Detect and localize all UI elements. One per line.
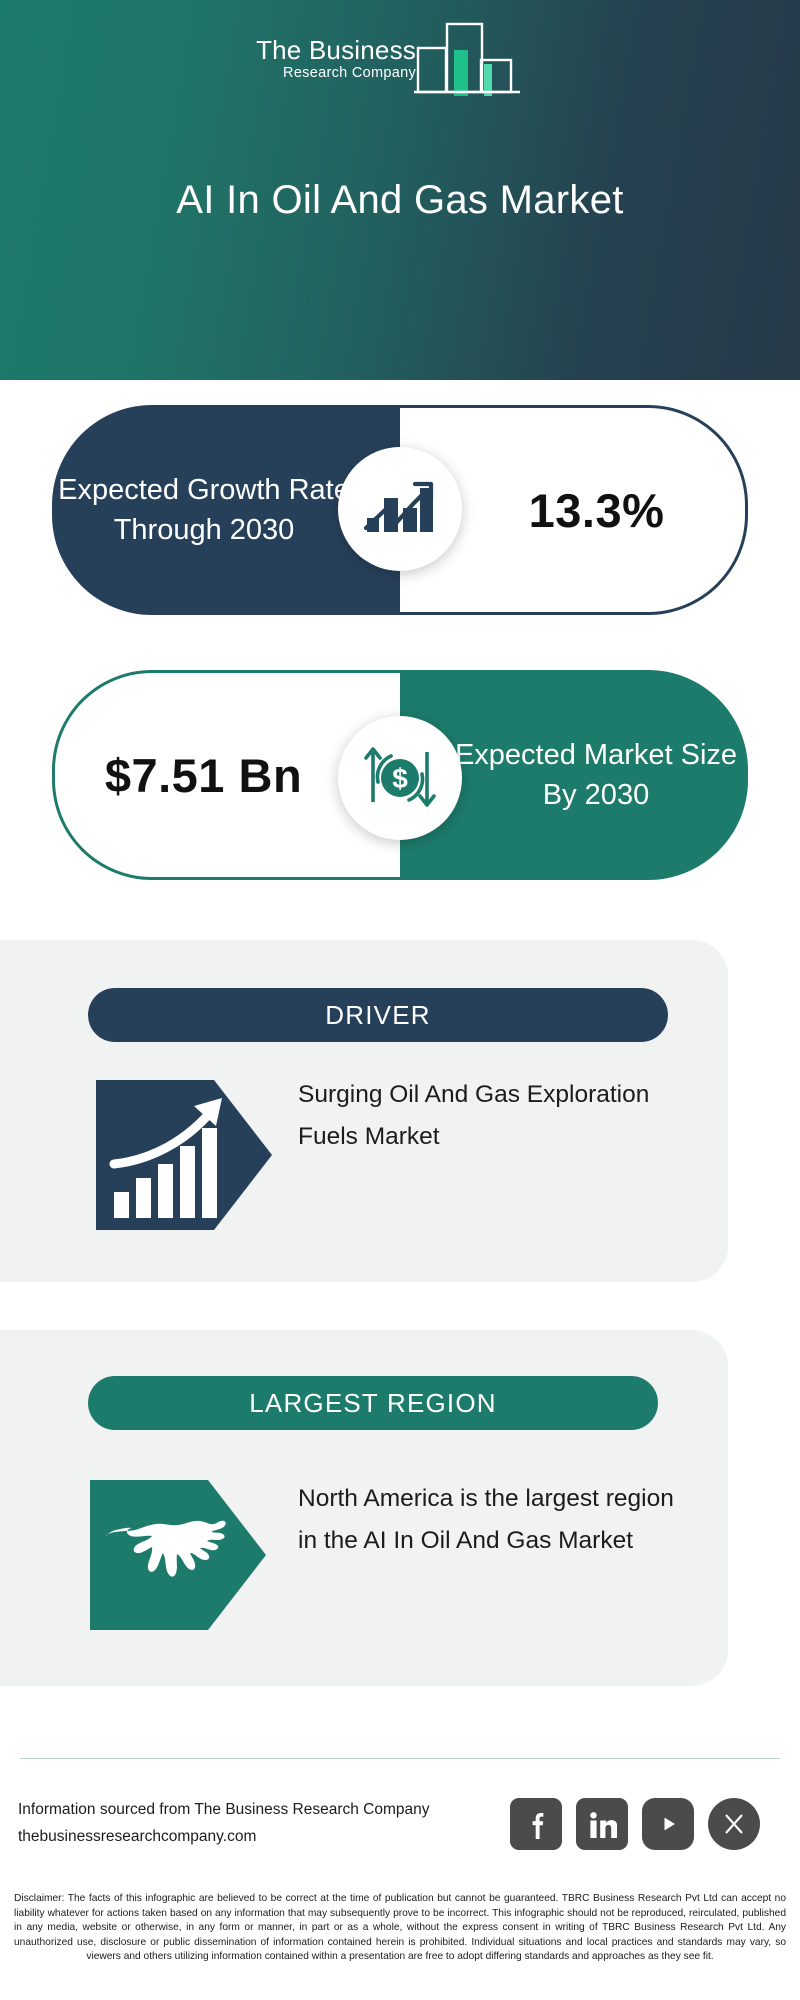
stat-value-text: 13.3%	[529, 483, 665, 538]
header-banner: The Business Research Company AI In Oil …	[0, 0, 800, 380]
disclaimer-text: Disclaimer: The facts of this infographi…	[14, 1892, 786, 1965]
svg-text:$: $	[392, 763, 408, 794]
youtube-icon[interactable]	[642, 1798, 694, 1850]
x-twitter-icon[interactable]	[708, 1798, 760, 1850]
footer-source: Information sourced from The Business Re…	[18, 1796, 430, 1850]
stat-card-growth-rate: Expected Growth Rate Through 2030 13.3%	[52, 405, 748, 615]
driver-description: Surging Oil And Gas Exploration Fuels Ma…	[298, 1074, 698, 1158]
footer-source-line-1: Information sourced from The Business Re…	[18, 1796, 430, 1823]
page-title: AI In Oil And Gas Market	[0, 178, 800, 223]
driver-pill-label: DRIVER	[88, 988, 668, 1042]
stat-value-text: $7.51 Bn	[105, 748, 302, 803]
infographic-page: The Business Research Company AI In Oil …	[0, 0, 800, 2000]
dollar-cycle-icon: $	[360, 738, 440, 818]
facebook-icon[interactable]	[510, 1798, 562, 1850]
stat-card-market-size: $7.51 Bn Expected Market Size By 2030 $	[52, 670, 748, 880]
stat-label-text: Expected Growth Rate Through 2030	[30, 470, 378, 550]
logo-wordmark: The Business Research Company	[218, 36, 416, 82]
growth-chart-icon-bubble	[338, 447, 462, 571]
driver-panel: DRIVER Surging Oil And Gas Exploration F…	[0, 940, 728, 1282]
growth-chart-icon	[363, 472, 437, 546]
region-pill-label: LARGEST REGION	[88, 1376, 658, 1430]
logo-line-1: The Business	[218, 36, 416, 64]
linkedin-icon[interactable]	[576, 1798, 628, 1850]
region-description: North America is the largest region in t…	[298, 1478, 698, 1562]
footer-source-line-2[interactable]: thebusinessresearchcompany.com	[18, 1823, 430, 1850]
social-links	[510, 1798, 780, 1854]
dollar-cycle-icon-bubble: $	[338, 716, 462, 840]
rising-bar-chart-arrow-icon	[96, 1080, 272, 1230]
bar-chart-logo-icon	[414, 22, 520, 100]
logo-line-2: Research Company	[218, 64, 416, 82]
footer-divider	[20, 1758, 780, 1759]
company-logo: The Business Research Company	[218, 22, 518, 102]
region-panel: LARGEST REGION North America is the larg…	[0, 1330, 728, 1686]
stat-label-text: Expected Market Size By 2030	[422, 735, 770, 815]
north-america-map-icon	[90, 1480, 266, 1630]
